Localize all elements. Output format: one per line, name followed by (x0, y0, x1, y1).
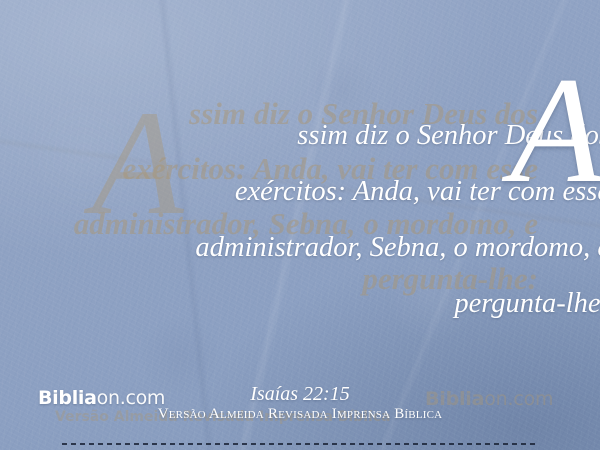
verse-line: pergunta-lhe: (0, 276, 600, 332)
verse-card: A ssim diz o Senhor Deus dos exércitos: … (0, 0, 600, 450)
verse-line: administrador, Sebna, o mordomo, e (0, 220, 600, 276)
verse-dropcap: A (510, 70, 600, 190)
bottom-dashed-rule (62, 443, 538, 445)
verse-reference: Isaías 22:15 (0, 383, 600, 406)
bible-version-label: Versão Almeida Revisada Imprensa Bíblica (0, 406, 600, 423)
